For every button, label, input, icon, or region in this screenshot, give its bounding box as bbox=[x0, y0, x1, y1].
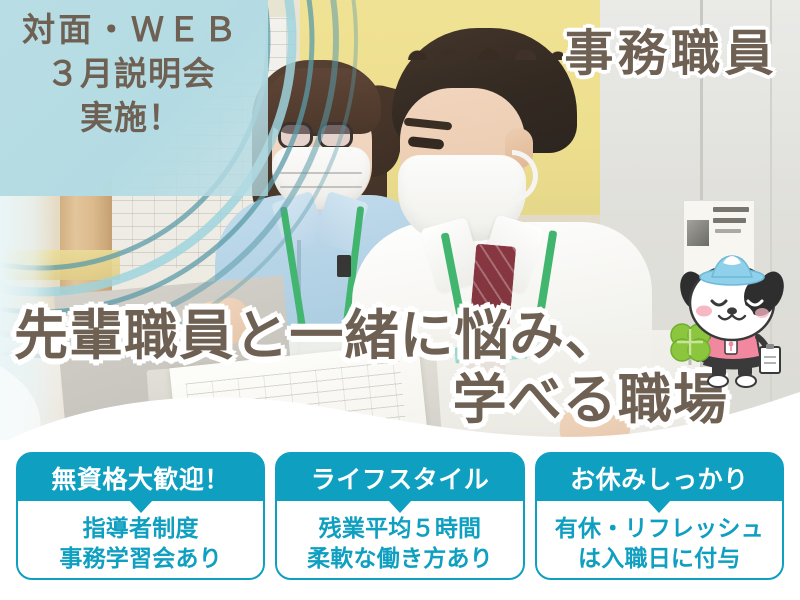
photo-poster-text-line-3 bbox=[715, 229, 741, 233]
feature-box-lifestyle[interactable]: ライフスタイル 残業平均５時間 柔軟な働き方あり bbox=[275, 452, 524, 580]
feature-box-lifestyle-line-2: 柔軟な働き方あり bbox=[277, 544, 522, 574]
photo-poster-text-line-1 bbox=[713, 207, 749, 212]
photo-woman-mask-fold-1 bbox=[280, 172, 362, 174]
photo-woman-glasses-left bbox=[278, 122, 313, 149]
seminar-notice: 対面・ＷＥＢ ３月説明会 実施！ bbox=[0, 8, 262, 140]
feature-box-qualification[interactable]: 無資格大歓迎！ 指導者制度 事務学習会あり bbox=[16, 452, 265, 580]
job-title: 事務職員 bbox=[564, 14, 778, 85]
photo-poster-text-line-2 bbox=[713, 218, 746, 223]
feature-box-holidays-line-2: は入職日に付与 bbox=[537, 544, 782, 574]
photo-woman-mask-fold-2 bbox=[280, 186, 362, 188]
photo-sticky-note-2 bbox=[468, 337, 489, 350]
feature-box-qualification-line-1: 指導者制度 bbox=[18, 514, 263, 544]
photo-woman-glasses-right bbox=[318, 122, 353, 149]
feature-box-holidays-header: お休みしっかり bbox=[537, 454, 782, 501]
photo-woman-id-badge bbox=[337, 255, 351, 277]
feature-box-lifestyle-header: ライフスタイル bbox=[277, 454, 522, 501]
dog-mascot bbox=[668, 255, 800, 390]
feature-box-holidays[interactable]: お休みしっかり 有休・リフレッシュ は入職日に付与 bbox=[535, 452, 784, 580]
photo-man-hair-texture bbox=[396, 26, 576, 60]
feature-box-holidays-line-1: 有休・リフレッシュ bbox=[537, 514, 782, 544]
photo-woman-glasses-bridge bbox=[312, 133, 320, 136]
feature-box-qualification-line-2: 事務学習会あり bbox=[18, 544, 263, 574]
seminar-notice-line-1: 対面・ＷＥＢ bbox=[0, 8, 262, 52]
feature-box-lifestyle-line-1: 残業平均５時間 bbox=[277, 514, 522, 544]
seminar-notice-line-3: 実施！ bbox=[0, 96, 262, 140]
photo-poster-image bbox=[687, 220, 709, 246]
seminar-notice-line-2: ３月説明会 bbox=[0, 52, 262, 96]
feature-box-qualification-header: 無資格大歓迎！ bbox=[18, 454, 263, 501]
recruitment-banner: 対面・ＷＥＢ ３月説明会 実施！ 事務職員 先輩職員と一緒に悩み、 学べる職場 bbox=[0, 0, 800, 600]
feature-box-list: 無資格大歓迎！ 指導者制度 事務学習会あり ライフスタイル 残業平均５時間 柔軟… bbox=[0, 452, 800, 592]
